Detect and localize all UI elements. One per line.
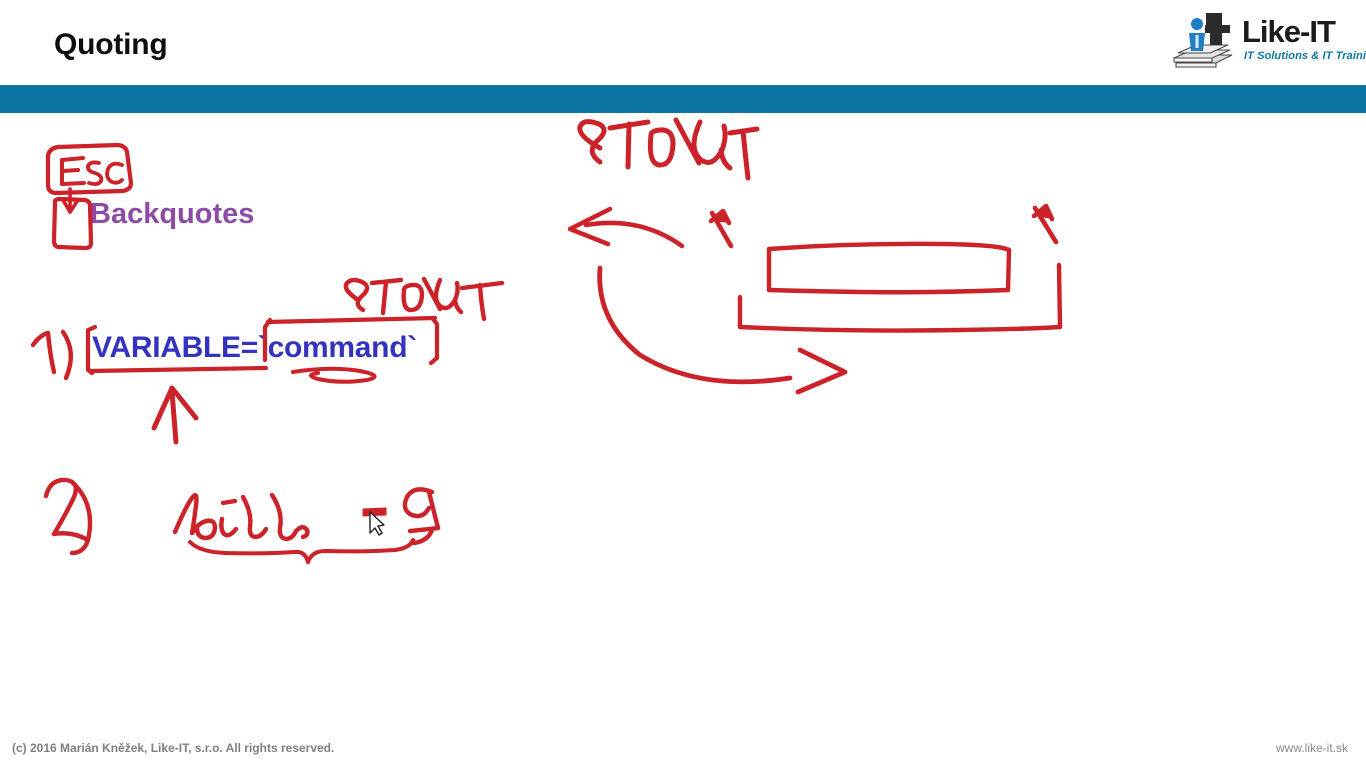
slide-footer: (c) 2016 Marián Kněžek, Like-IT, s.r.o. … (0, 728, 1366, 766)
header-accent-bar (0, 85, 1366, 113)
logo-tagline: IT Solutions & IT Trainings (1244, 50, 1366, 62)
brand-logo: Like-IT IT Solutions & IT Trainings (1154, 6, 1354, 76)
backquotes-heading: Backquotes (90, 198, 254, 231)
copyright-notice: (c) 2016 Marián Kněžek, Like-IT, s.r.o. … (12, 741, 334, 755)
like-it-books-figure-icon (1172, 11, 1236, 73)
logo-wordmark: Like-IT (1242, 14, 1335, 50)
slide-header: Quoting Like-IT IT Solutions & IT Traini… (0, 0, 1366, 85)
page-title: Quoting (54, 28, 168, 62)
website-url: www.like-it.sk (1276, 741, 1348, 755)
variable-assignment-expression: VARIABLE=`command` (92, 331, 417, 365)
